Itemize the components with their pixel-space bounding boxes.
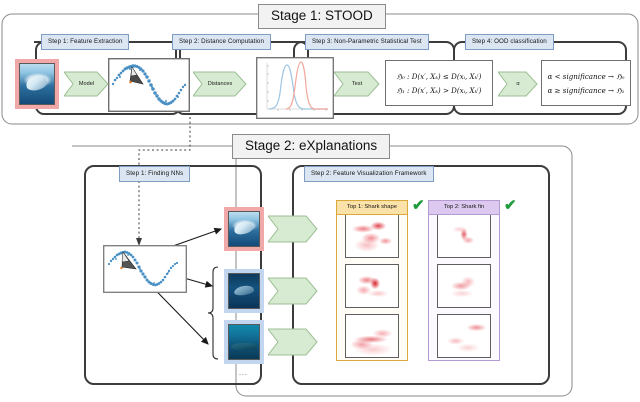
arrow-distances: Distances xyxy=(193,71,247,97)
saliency-map-1-1 xyxy=(437,264,491,308)
step-label-distance-computation: Step 2: Distance Computation xyxy=(172,34,271,50)
concept-column-0-check-icon: ✔ xyxy=(412,198,425,213)
saliency-map-1-0 xyxy=(437,214,491,258)
more-neighbours-indicator: ... xyxy=(239,370,248,377)
hypotheses-box: ℌ₀ : D(x′, Xₖ) ≤ D(xᵢ, Xₖⁱ) ℌ₁ : D(x′, X… xyxy=(385,60,493,106)
distance-distribution-plot xyxy=(256,57,334,119)
arrow-test: Test xyxy=(334,71,380,97)
stage1-title: Stage 1: STOOD xyxy=(258,4,386,29)
step-label-feature-extraction: Step 1: Feature Extraction xyxy=(41,34,129,50)
diagram-canvas: Stage 1: STOOD Stage 2: eXplanations Ste… xyxy=(0,0,640,402)
arrow-explain-0 xyxy=(268,215,318,243)
concept-column-1-check-icon: ✔ xyxy=(504,198,517,213)
arrow-explain-1 xyxy=(268,277,318,305)
saliency-map-1-2 xyxy=(437,314,491,358)
hypothesis-null: ℌ₀ : D(x′, Xₖ) ≤ D(xᵢ, Xₖⁱ) xyxy=(397,72,482,81)
arrow-test-label: Test xyxy=(352,81,362,87)
neighbour-group-brace xyxy=(208,267,218,359)
saliency-map-0-1 xyxy=(345,264,399,308)
decision-rules-box: α < significance → ℌ₀ α ≥ significance →… xyxy=(541,60,631,106)
stage2-title: Stage 2: eXplanations xyxy=(232,134,390,159)
concept-column-1-header: Top 2: Shark fin xyxy=(428,200,500,215)
arrow-model-label: Model xyxy=(79,81,94,87)
saliency-map-0-2 xyxy=(345,314,399,358)
decision-rule-reject-null: α ≥ significance → ℌ₁ xyxy=(548,86,625,95)
neighbour-thumb-2 xyxy=(224,320,264,364)
neighbour-thumb-0 xyxy=(224,207,264,251)
decision-rule-accept-null: α < significance → ℌ₀ xyxy=(548,72,625,81)
arrow-distances-label: Distances xyxy=(208,81,233,87)
arrow-model: Model xyxy=(64,71,109,97)
feature-embedding-plot xyxy=(108,58,190,112)
nearest-neighbour-plot xyxy=(103,245,187,293)
concept-column-0-header: Top 1: Shark shape xyxy=(336,200,408,215)
step-label-feature-visualization: Step 2: Feature Visualization Framework xyxy=(304,166,434,182)
arrow-explain-2 xyxy=(268,328,318,356)
neighbour-thumb-1 xyxy=(224,269,264,313)
arrow-alpha-label: α xyxy=(516,81,519,87)
step-label-statistical-test: Step 3: Non-Parametric Statistical Test xyxy=(305,34,429,50)
step-label-ood-classification: Step 4: OOD classification xyxy=(465,34,554,50)
arrow-alpha: α xyxy=(498,71,538,97)
hypothesis-alternative: ℌ₁ : D(x′, Xₖ) > D(xᵢ, Xₖⁱ) xyxy=(397,86,482,95)
query-input-image xyxy=(15,59,59,109)
saliency-map-0-0 xyxy=(345,214,399,258)
step-label-finding-nns: Step 1: Finding NNs xyxy=(119,166,190,182)
